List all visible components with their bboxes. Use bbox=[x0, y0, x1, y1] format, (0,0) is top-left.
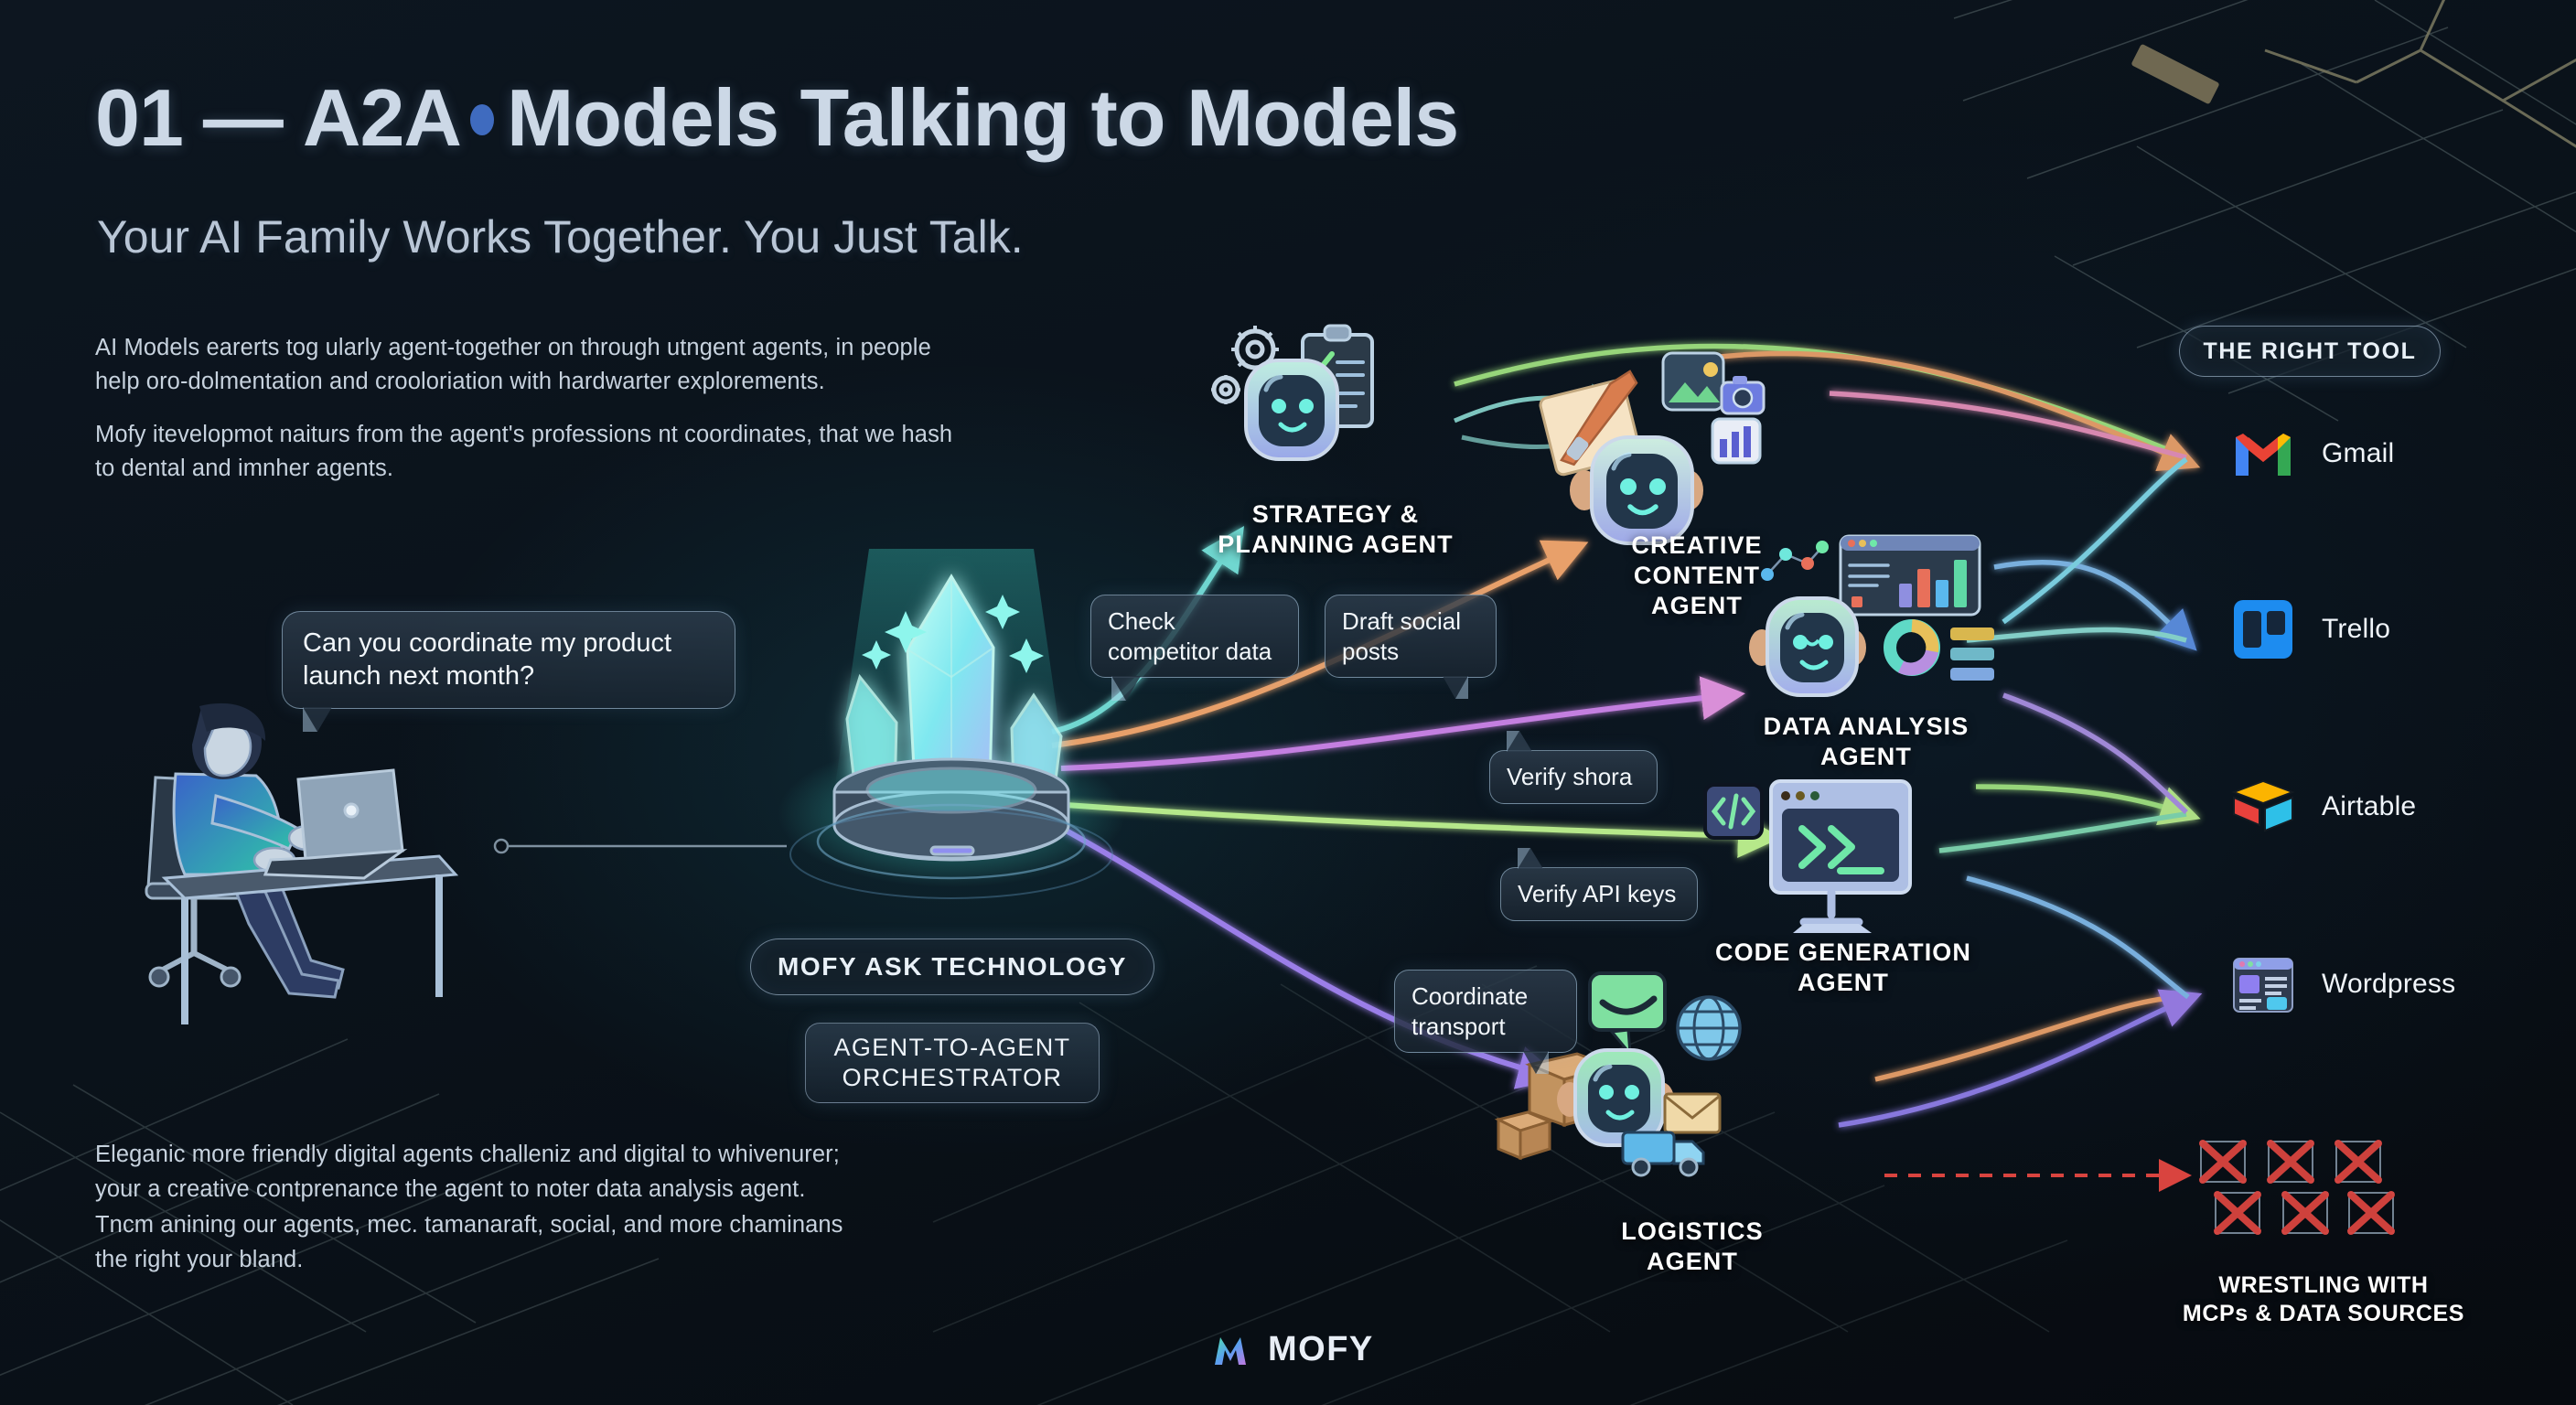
creative-content-agent-icon bbox=[1509, 348, 1766, 549]
orchestrator-subtitle: AGENT-TO-AGENT ORCHESTRATOR bbox=[805, 1023, 1100, 1103]
tool-row-airtable[interactable]: Airtable bbox=[2230, 774, 2416, 840]
tool-name-gmail: Gmail bbox=[2322, 438, 2394, 469]
page-title-a2a: A2A bbox=[303, 72, 461, 163]
airtable-icon bbox=[2230, 774, 2296, 840]
page-subtitle: Your AI Family Works Together. You Just … bbox=[97, 210, 1024, 263]
orchestrator-badge: MOFY ASK TECHNOLOGY bbox=[750, 938, 1154, 995]
the-right-tool-badge: THE RIGHT TOOL bbox=[2179, 326, 2441, 377]
footnote-paragraph-wrap: Eleganic more friendly digital agents ch… bbox=[95, 1137, 854, 1297]
tool-row-trello[interactable]: Trello bbox=[2230, 596, 2390, 662]
tool-name-airtable: Airtable bbox=[2322, 791, 2416, 822]
data-analysis-agent-icon bbox=[1738, 529, 2003, 712]
footnote-paragraph: Eleganic more friendly digital agents ch… bbox=[95, 1137, 854, 1277]
page-title-dash: — bbox=[203, 72, 283, 163]
gmail-icon bbox=[2230, 421, 2296, 487]
intro-paragraph-1: AI Models earerts tog ularly agent-toget… bbox=[95, 331, 964, 398]
mofy-logo-icon bbox=[1207, 1326, 1253, 1372]
message-bubble-check-competitor-data: Check competitor data bbox=[1090, 595, 1299, 678]
person-at-desk-illustration bbox=[128, 695, 476, 1043]
message-bubble-verify-shora: Verify shora bbox=[1489, 750, 1658, 804]
agent-label-logistics: LOGISTICS AGENT bbox=[1555, 1217, 1830, 1277]
agent-label-data-analysis: DATA ANALYSIS AGENT bbox=[1711, 712, 2022, 772]
user-speech-bubble: Can you coordinate my product launch nex… bbox=[282, 611, 735, 709]
intro-paragraphs: AI Models earerts tog ularly agent-toget… bbox=[95, 331, 964, 506]
user-speech-text: Can you coordinate my product launch nex… bbox=[303, 628, 671, 691]
message-bubble-coordinate-transport: Coordinate transport bbox=[1394, 970, 1577, 1053]
intro-paragraph-2: Mofy itevelopmot naiturs from the agent'… bbox=[95, 418, 964, 485]
page-title-main: Models Talking to Models bbox=[507, 72, 1458, 163]
crossed-out-servers-icon bbox=[2195, 1136, 2388, 1237]
page-title-number: 01 bbox=[95, 72, 183, 163]
agent-label-strategy-planning: STRATEGY & PLANNING AGENT bbox=[1189, 499, 1482, 560]
mcp-caption: WRESTLING WITH MCPs & DATA SOURCES bbox=[2131, 1271, 2516, 1329]
infographic-canvas: 01—A2AModels Talking to Models Your AI F… bbox=[0, 0, 2576, 1405]
tool-row-wordpress[interactable]: Wordpress bbox=[2230, 951, 2455, 1017]
tool-name-trello: Trello bbox=[2322, 614, 2390, 645]
strategy-planning-agent-icon bbox=[1207, 322, 1454, 505]
bullet-dot-icon bbox=[470, 104, 494, 135]
crystal-hologram-icon bbox=[759, 540, 1143, 924]
wordpress-icon bbox=[2230, 951, 2296, 1017]
brand-name: MOFY bbox=[1268, 1330, 1374, 1369]
isometric-grid-decoration bbox=[1991, 0, 2576, 357]
brand-footer: MOFY bbox=[1207, 1326, 1374, 1372]
trello-icon bbox=[2230, 596, 2296, 662]
message-bubble-verify-api-keys: Verify API keys bbox=[1500, 867, 1698, 921]
code-generation-agent-icon bbox=[1701, 776, 1939, 949]
tool-row-gmail[interactable]: Gmail bbox=[2230, 421, 2394, 487]
page-title: 01—A2AModels Talking to Models bbox=[95, 71, 1458, 165]
tool-name-wordpress: Wordpress bbox=[2322, 969, 2455, 1000]
message-bubble-draft-social-posts: Draft social posts bbox=[1325, 595, 1497, 678]
